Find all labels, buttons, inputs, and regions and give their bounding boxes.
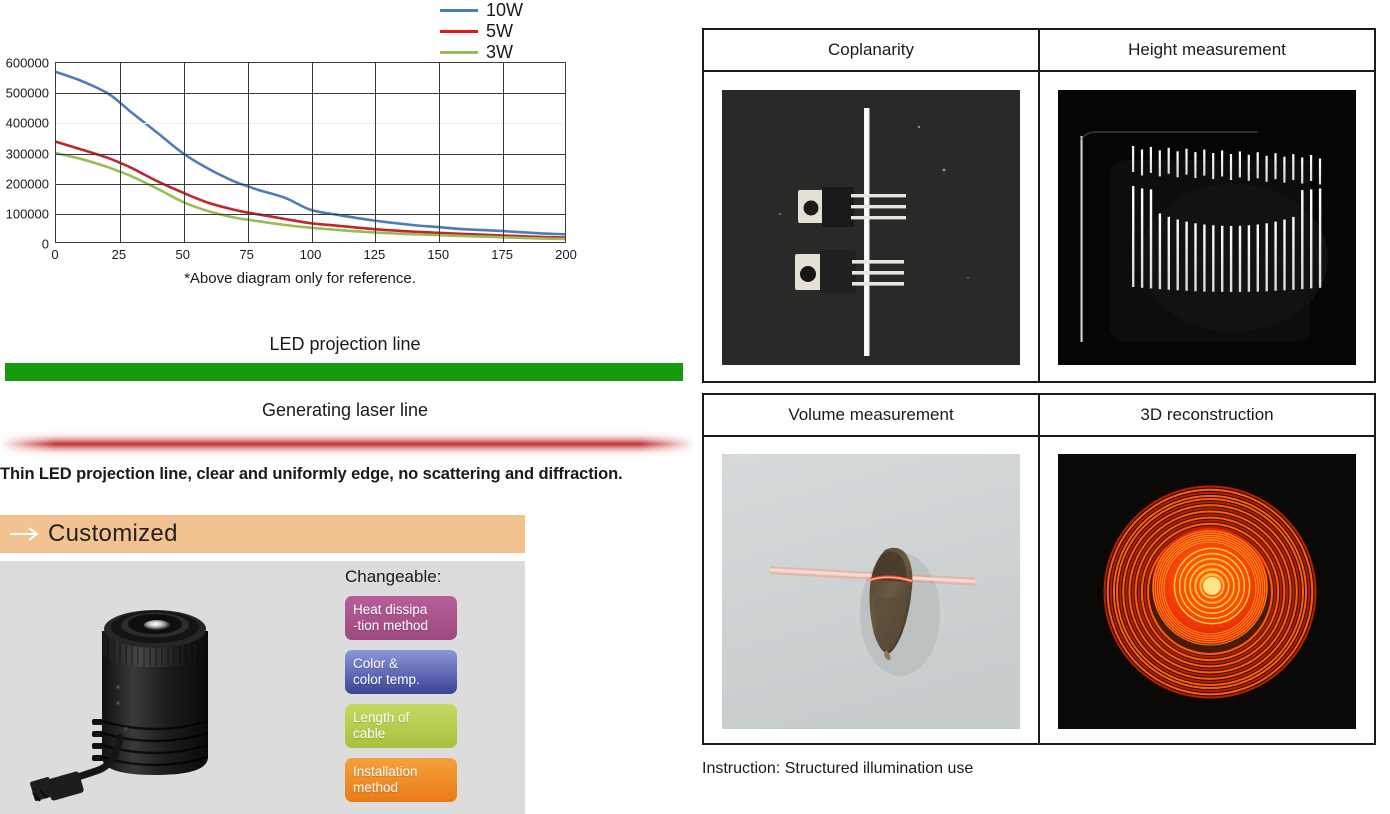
chip-line-2: cable bbox=[353, 726, 449, 742]
x-axis-tick-label: 200 bbox=[555, 247, 577, 262]
chip-line-1: Heat dissipa bbox=[353, 602, 449, 618]
chip-line-2: method bbox=[353, 780, 449, 796]
y-axis-tick-label: 100000 bbox=[0, 206, 49, 221]
chart-gridline-horizontal bbox=[56, 184, 565, 185]
light-stripe bbox=[1266, 223, 1268, 291]
chart-reference-note: *Above diagram only for reference. bbox=[0, 270, 600, 287]
customized-body: Changeable: Heat dissipa -tion method Co… bbox=[0, 561, 525, 814]
customized-section: Customized bbox=[0, 515, 525, 814]
x-axis-tick-label: 75 bbox=[239, 247, 253, 262]
chart-gridline-vertical bbox=[184, 63, 185, 242]
led-projection-line-bar bbox=[5, 363, 683, 381]
changeable-label: Changeable: bbox=[345, 567, 515, 587]
light-stripe bbox=[1319, 189, 1321, 288]
light-stripe bbox=[1194, 223, 1196, 291]
laser-fade-right bbox=[640, 430, 695, 458]
light-stripe bbox=[1301, 190, 1303, 289]
sample-body-row-2 bbox=[704, 437, 1374, 745]
legend-swatch-5w bbox=[440, 30, 478, 33]
light-stripe bbox=[1150, 189, 1152, 288]
sample-table-row-1: Coplanarity Height measurement bbox=[702, 28, 1376, 383]
y-axis-tick-label: 200000 bbox=[0, 176, 49, 191]
light-stripe bbox=[1301, 158, 1303, 184]
x-axis-tick-label: 100 bbox=[300, 247, 322, 262]
light-stripe bbox=[1310, 189, 1312, 288]
x-axis-tick-label: 175 bbox=[491, 247, 513, 262]
light-stripe bbox=[1212, 225, 1214, 291]
chip-installation-method[interactable]: Installation method bbox=[345, 758, 457, 802]
chip-line-2: -tion method bbox=[353, 618, 449, 634]
light-stripe bbox=[1292, 217, 1294, 290]
sample-pane-coplanarity bbox=[704, 72, 1038, 383]
light-stripe bbox=[1230, 154, 1232, 180]
chart-gridline-vertical bbox=[120, 63, 121, 242]
sample-pane-3d-reconstruction bbox=[1038, 437, 1374, 745]
product-illustration bbox=[30, 569, 280, 809]
light-stripe bbox=[1266, 156, 1268, 182]
x-axis-tick-label: 125 bbox=[364, 247, 386, 262]
light-stripe bbox=[1177, 220, 1179, 291]
light-stripe bbox=[1150, 147, 1152, 173]
light-stripe bbox=[1141, 189, 1143, 288]
y-axis-tick-label: 0 bbox=[0, 237, 49, 252]
light-stripe bbox=[1221, 226, 1223, 292]
chart-gridline-vertical bbox=[503, 63, 504, 242]
photo-height-measurement bbox=[1058, 90, 1356, 365]
chart-gridline-horizontal bbox=[56, 214, 565, 215]
light-stripe bbox=[1310, 155, 1312, 181]
light-stripe bbox=[1141, 150, 1143, 176]
chart-series-line-5w bbox=[56, 142, 565, 238]
right-column: Coplanarity Height measurement bbox=[700, 0, 1390, 814]
sample-pane-height-measurement bbox=[1038, 72, 1374, 383]
light-stripe bbox=[1212, 153, 1214, 179]
light-stripe bbox=[1292, 154, 1294, 180]
light-stripe bbox=[1177, 151, 1179, 177]
x-axis-tick-label: 150 bbox=[427, 247, 449, 262]
chip-length-of-cable[interactable]: Length of cable bbox=[345, 704, 457, 748]
light-stripe bbox=[1159, 150, 1161, 176]
light-stripe bbox=[1221, 151, 1223, 177]
light-stripe bbox=[1168, 217, 1170, 290]
chart-gridline-vertical bbox=[375, 63, 376, 242]
y-axis-tick-label: 300000 bbox=[0, 146, 49, 161]
chart-gridline-vertical bbox=[439, 63, 440, 242]
legend-swatch-10w bbox=[440, 9, 478, 12]
light-stripe bbox=[1257, 152, 1259, 178]
laser-fade-left bbox=[0, 430, 55, 458]
light-stripe bbox=[1248, 225, 1250, 291]
y-axis-tick-label: 600000 bbox=[0, 56, 49, 71]
legend-swatch-3w bbox=[440, 51, 478, 54]
light-stripe bbox=[1319, 159, 1321, 185]
legend-label-10w: 10W bbox=[486, 0, 523, 21]
projection-lines-section: LED projection line Generating laser lin… bbox=[0, 325, 700, 475]
sample-pane-volume-measurement bbox=[704, 437, 1038, 745]
light-stripe bbox=[1248, 155, 1250, 181]
sample-table-row-2: Volume measurement 3D reconstruction bbox=[702, 393, 1376, 745]
light-stripe bbox=[1132, 146, 1134, 172]
projection-line-description: Thin LED projection line, clear and unif… bbox=[0, 465, 700, 484]
sample-table-header-row-2: Volume measurement 3D reconstruction bbox=[704, 395, 1374, 437]
chart-plot-area bbox=[55, 62, 566, 243]
light-stripe bbox=[1203, 225, 1205, 292]
sample-title-volume-measurement: Volume measurement bbox=[704, 395, 1038, 435]
x-axis-ticks: 0255075100125150175200 bbox=[55, 247, 566, 267]
light-stripe bbox=[1185, 222, 1187, 291]
chip-line-1: Installation bbox=[353, 764, 449, 780]
photo-3d-reconstruction bbox=[1058, 454, 1356, 729]
light-stripe bbox=[1283, 220, 1285, 291]
y-axis-tick-label: 500000 bbox=[0, 86, 49, 101]
legend-item-10w: 10W bbox=[440, 0, 600, 21]
chart-series-line-3w bbox=[56, 153, 565, 239]
sample-title-height-measurement: Height measurement bbox=[1038, 30, 1374, 70]
chart-series-svg bbox=[56, 63, 565, 242]
sample-title-coplanarity: Coplanarity bbox=[704, 30, 1038, 70]
chart-plot-wrapper: 0100000200000300000400000500000600000 02… bbox=[0, 55, 600, 255]
photo-coplanarity bbox=[722, 90, 1020, 365]
chip-heat-dissipation-method[interactable]: Heat dissipa -tion method bbox=[345, 596, 457, 640]
chip-line-2: color temp. bbox=[353, 672, 449, 688]
sample-title-3d-reconstruction: 3D reconstruction bbox=[1038, 395, 1374, 435]
chip-line-1: Length of bbox=[353, 710, 449, 726]
x-axis-tick-label: 25 bbox=[112, 247, 126, 262]
changeable-options-column: Changeable: Heat dissipa -tion method Co… bbox=[345, 567, 515, 812]
light-stripe bbox=[1230, 226, 1232, 292]
light-stripe bbox=[1274, 153, 1276, 179]
left-column: 10W 5W 3W 010000020000030000040000050000… bbox=[0, 0, 700, 814]
x-axis-tick-label: 0 bbox=[51, 247, 58, 262]
light-stripe bbox=[1168, 148, 1170, 174]
chip-color-and-color-temp[interactable]: Color & color temp. bbox=[345, 650, 457, 694]
light-stripe bbox=[1159, 214, 1161, 290]
light-stripe bbox=[1239, 226, 1241, 292]
chart-gridline-vertical bbox=[248, 63, 249, 242]
light-stripe bbox=[1274, 222, 1276, 291]
arrow-right-icon bbox=[10, 527, 40, 541]
luminance-distance-chart: 10W 5W 3W 010000020000030000040000050000… bbox=[0, 0, 700, 300]
light-stripe bbox=[1132, 186, 1134, 287]
led-projection-line-caption: LED projection line bbox=[0, 334, 690, 355]
photo-volume-measurement bbox=[722, 454, 1020, 729]
legend-label-5w: 5W bbox=[486, 21, 513, 42]
x-axis-tick-label: 50 bbox=[176, 247, 190, 262]
light-stripe bbox=[1257, 225, 1259, 292]
chart-gridline-vertical bbox=[312, 63, 313, 242]
customized-header: Customized bbox=[0, 515, 525, 553]
laser-line-caption: Generating laser line bbox=[0, 400, 690, 421]
chart-gridline-horizontal bbox=[56, 93, 565, 94]
light-stripe bbox=[1283, 157, 1285, 183]
y-axis-tick-label: 400000 bbox=[0, 116, 49, 131]
chip-line-1: Color & bbox=[353, 656, 449, 672]
customized-title: Customized bbox=[48, 520, 178, 548]
chart-gridline-horizontal bbox=[56, 123, 565, 124]
legend-item-5w: 5W bbox=[440, 21, 600, 42]
light-stripe bbox=[1203, 150, 1205, 176]
light-stripe bbox=[1239, 151, 1241, 177]
sample-body-row-1 bbox=[704, 72, 1374, 383]
light-stripe bbox=[1185, 149, 1187, 175]
light-stripe bbox=[1194, 152, 1196, 178]
chart-legend: 10W 5W 3W bbox=[440, 0, 600, 63]
chart-gridline-horizontal bbox=[56, 154, 565, 155]
instruction-caption: Instruction: Structured illumination use bbox=[702, 760, 973, 778]
laser-line-bar bbox=[0, 430, 695, 458]
sample-table-header-row-1: Coplanarity Height measurement bbox=[704, 30, 1374, 72]
